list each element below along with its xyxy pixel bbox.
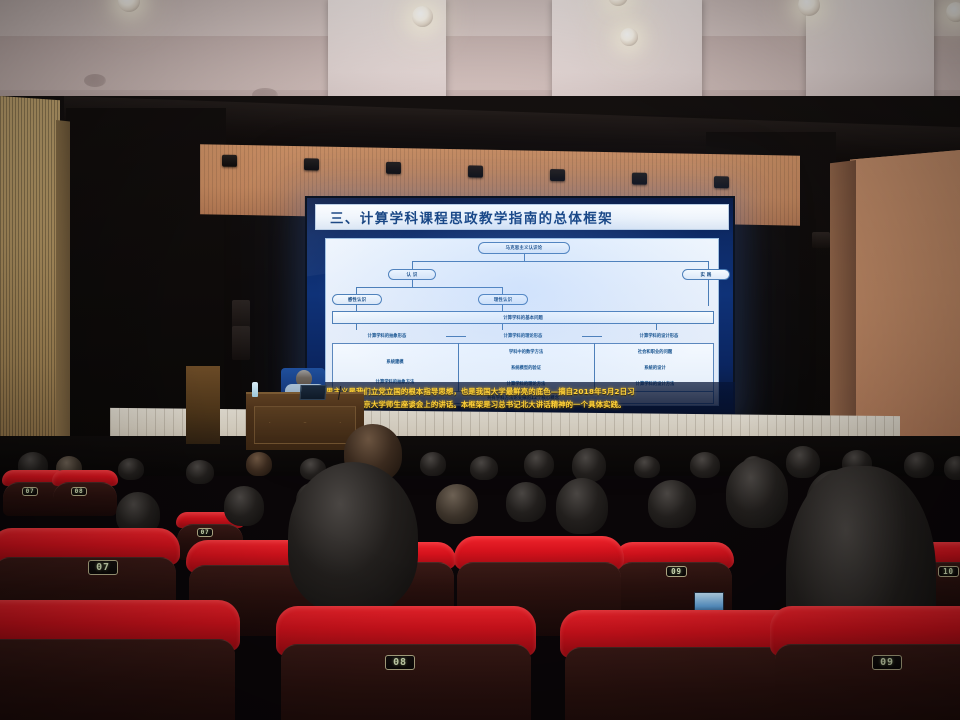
connector [356, 287, 502, 288]
audience-head [118, 458, 144, 480]
slide-diagram: 马克思主义认识论 认 识 实 践 感性认识 理性认识 计算 [325, 238, 719, 406]
spotlight-icon [222, 155, 237, 167]
seat-number-plate: 09 [872, 655, 902, 670]
lectern [186, 366, 220, 444]
audience-head [572, 448, 606, 482]
seat-back [775, 644, 960, 720]
caption-line-1: 马克思主义是我们立党立国的根本指导思想，也是我国大学最鲜亮的底色—摘自2018年… [311, 385, 729, 398]
seat-number: 07 [26, 488, 35, 495]
seat-number-plate: 10 [938, 566, 959, 577]
left-wall-wood-panel [0, 96, 60, 452]
seat-number-plate: 07 [22, 487, 38, 496]
diagram-node-practice: 实 践 [682, 269, 730, 280]
left-wall-speaker [232, 326, 250, 360]
connector [502, 305, 503, 311]
seat-number: 08 [75, 488, 84, 495]
audience-head [556, 478, 608, 534]
seat-number-plate: 08 [71, 487, 87, 496]
spotlight-icon [550, 169, 565, 181]
diagram-node-cognition: 认 识 [388, 269, 436, 280]
seat[interactable] [0, 600, 240, 720]
desk-ornament [269, 422, 341, 431]
audience-head [726, 458, 788, 528]
audience-head [246, 452, 272, 476]
desk-front-panel [254, 406, 356, 444]
audience-head [186, 460, 214, 484]
diagram-form-design: 计算学科的设计形态 [604, 330, 714, 341]
audience-head [648, 480, 696, 528]
ceiling-downlight [620, 28, 638, 46]
seat-back [0, 639, 235, 720]
seat-number: 10 [943, 567, 954, 576]
spotlight-icon [468, 165, 483, 177]
connector [356, 287, 357, 294]
diagram-col3-item1: 社会和职业的问题 [596, 347, 714, 357]
seat-number-plate: 08 [385, 655, 415, 670]
diagram-col2-item1: 学科中的数学方法 [460, 347, 592, 357]
audience-head [420, 452, 446, 476]
connector-arrow [446, 336, 466, 337]
connector [708, 261, 709, 269]
slide-title: 三、计算学科课程思政教学指南的总体框架 [330, 207, 613, 227]
connector-arrow [582, 336, 602, 337]
audience-head [436, 484, 478, 524]
seat-back [565, 647, 805, 720]
ceiling-downlight [946, 2, 960, 22]
audience-head [470, 456, 498, 480]
seat-number-plate: 07 [88, 560, 118, 575]
auditorium-photo: 三、计算学科课程思政教学指南的总体框架 马克思主义认识论 认 识 实 践 [0, 0, 960, 720]
connector [356, 305, 357, 311]
seat-number: 09 [671, 567, 682, 576]
seat-number-plate: 07 [197, 528, 213, 537]
seat-number: 08 [393, 657, 407, 668]
seat-number: 07 [201, 529, 210, 536]
connector [524, 254, 525, 261]
caption-line-2: 近平总书记在北京大学师生座谈会上的讲话。本框架是习总书记北大讲话精神的一个具体实… [311, 398, 729, 411]
ceiling-downlight [118, 0, 140, 12]
spotlight-icon [632, 173, 647, 185]
right-wall-panel [850, 150, 960, 460]
seat-number-plate: 09 [666, 566, 687, 577]
diagram-root-node: 马克思主义认识论 [478, 242, 570, 254]
ceiling-downlight [412, 6, 433, 27]
audience-head [904, 452, 934, 478]
audience-head [634, 456, 660, 478]
right-wall-speaker [812, 232, 830, 248]
left-wall-trim [56, 120, 70, 451]
connector [412, 261, 413, 269]
audience-head [524, 450, 554, 478]
ceiling-vent [84, 74, 106, 87]
connector [412, 261, 708, 262]
audience-head [944, 456, 960, 480]
seat[interactable] [770, 606, 960, 720]
diagram-col2-item2: 系统模型的验证 [460, 363, 592, 373]
diagram-node-rational: 理性认识 [478, 294, 528, 305]
slide-title-bar: 三、计算学科课程思政教学指南的总体框架 [315, 204, 729, 230]
spotlight-icon [304, 158, 319, 170]
right-wall-trim [830, 160, 856, 453]
audience-head [786, 446, 820, 478]
diagram-node-perceptual: 感性认识 [332, 294, 382, 305]
connector [502, 287, 503, 294]
diagram-col1-item1: 系统建模 [334, 357, 456, 367]
speaker-laptop [299, 385, 326, 400]
audience-head [690, 452, 720, 478]
spotlight-icon [714, 176, 729, 188]
slide-caption: 马克思主义是我们立党立国的根本指导思想，也是我国大学最鲜亮的底色—摘自2018年… [305, 382, 735, 414]
audience-head [506, 482, 546, 522]
slide-surface: 三、计算学科课程思政教学指南的总体框架 马克思主义认识论 认 识 实 践 [307, 198, 733, 412]
diagram-form-theory: 计算学科的理论形态 [468, 330, 578, 341]
audience-head [288, 462, 418, 612]
seat-number: 07 [96, 562, 110, 573]
spotlight-icon [386, 162, 401, 174]
diagram-basic-question-bar: 计算学科的基本问题 [332, 311, 714, 324]
diagram-col3-item2: 系统的设计 [596, 363, 714, 373]
seat-number: 09 [880, 657, 894, 668]
connector [412, 280, 413, 287]
connector [708, 280, 709, 306]
audience-head [224, 486, 264, 526]
diagram-form-abstract: 计算学科的抽象形态 [332, 330, 442, 341]
water-bottle [252, 382, 258, 397]
